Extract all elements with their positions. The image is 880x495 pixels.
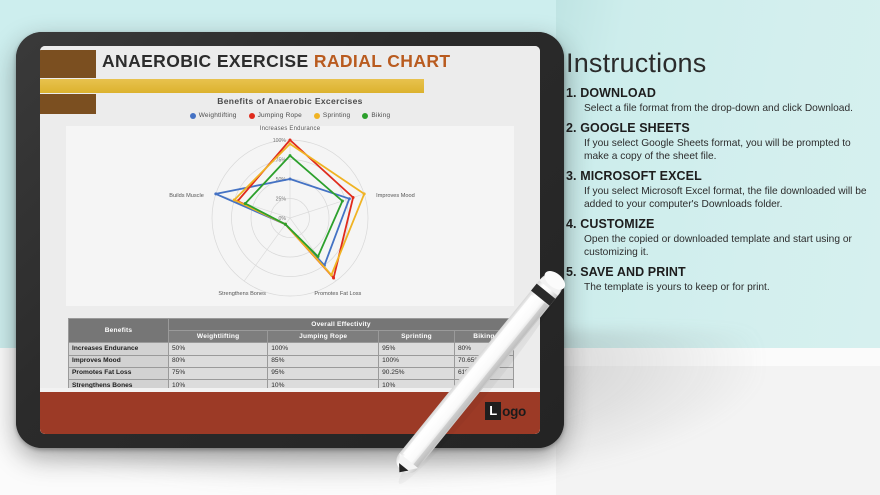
table-head: Benefits Overall Effectivity Weightlifti… <box>69 319 514 343</box>
table-cell-value: 75% <box>169 367 268 379</box>
tablet-device: ANAEROBIC EXERCISE RADIAL CHART Benefits… <box>16 32 564 448</box>
page-title: ANAEROBIC EXERCISE RADIAL CHART <box>102 51 451 72</box>
svg-text:Improves Mood: Improves Mood <box>376 193 415 199</box>
legend-item[interactable]: Jumping Rope <box>249 112 302 119</box>
table-header-row-1: Benefits Overall Effectivity <box>69 319 514 331</box>
table-cell-value: 95% <box>268 367 379 379</box>
table-row: Promotes Fat Loss75%95%90.25%61% <box>69 367 514 379</box>
legend-color-swatch-icon <box>190 113 196 119</box>
table-col-benefits: Benefits <box>69 319 169 343</box>
table-cell-benefit: Promotes Fat Loss <box>69 367 169 379</box>
table-subcol-sprinting: Sprinting <box>379 331 455 343</box>
legend-item[interactable]: Sprinting <box>314 112 350 119</box>
table-cell-value: 90.25% <box>379 367 455 379</box>
legend-label: Sprinting <box>323 112 350 119</box>
legend-color-swatch-icon <box>314 113 320 119</box>
logo-initial: L <box>485 402 501 420</box>
table-cell-value: 70.65% <box>454 355 513 367</box>
instruction-step-heading: 1. DOWNLOAD <box>566 86 876 100</box>
table-cell-benefit: Increases Endurance <box>69 343 169 355</box>
legend-label: Jumping Rope <box>258 112 302 119</box>
radar-chart: Increases Endurance 0%25%50%75%100%Impro… <box>66 126 514 306</box>
instruction-step-body: Select a file format from the drop-down … <box>584 103 876 115</box>
table-cell-value: 61% <box>454 367 513 379</box>
legend-item[interactable]: Biking <box>362 112 390 119</box>
table-cell-value: 95% <box>379 343 455 355</box>
table-subcol-weightlifting: Weightlifting <box>169 331 268 343</box>
radar-chart-svg: 0%25%50%75%100%Improves MoodPromotes Fat… <box>66 126 514 306</box>
table-row: Improves Mood80%85%100%70.65% <box>69 355 514 367</box>
header-block-upper <box>40 50 96 78</box>
table-col-group: Overall Effectivity <box>169 319 514 331</box>
table-cell-value: 50% <box>169 343 268 355</box>
legend-item[interactable]: Weightlifting <box>190 112 237 119</box>
table-cell-value: 80% <box>169 355 268 367</box>
svg-text:Builds Muscle: Builds Muscle <box>169 193 204 199</box>
tablet-screen[interactable]: ANAEROBIC EXERCISE RADIAL CHART Benefits… <box>40 46 540 434</box>
instruction-step-heading: 3. MICROSOFT EXCEL <box>566 169 876 183</box>
legend-label: Biking <box>371 112 390 119</box>
instructions-panel: Instructions 1. DOWNLOADSelect a file fo… <box>566 50 876 295</box>
instruction-step-body: The template is yours to keep or for pri… <box>584 282 876 294</box>
table-subcol-jumping-rope: Jumping Rope <box>268 331 379 343</box>
instruction-step-heading: 4. CUSTOMIZE <box>566 217 876 231</box>
table-cell-value: 80% <box>454 343 513 355</box>
table-cell-benefit: Improves Mood <box>69 355 169 367</box>
logo-text: ogo <box>502 404 526 419</box>
table-cell-value: 100% <box>379 355 455 367</box>
instruction-step-body: If you select Google Sheets format, you … <box>584 138 876 163</box>
table-row: Increases Endurance50%100%95%80% <box>69 343 514 355</box>
instruction-step-heading: 2. GOOGLE SHEETS <box>566 121 876 135</box>
instruction-step-body: Open the copied or downloaded template a… <box>584 234 876 259</box>
legend-label: Weightlifting <box>199 112 237 119</box>
spreadsheet-template: ANAEROBIC EXERCISE RADIAL CHART Benefits… <box>40 46 540 434</box>
canvas: ANAEROBIC EXERCISE RADIAL CHART Benefits… <box>0 0 880 495</box>
svg-text:Strengthens Bones: Strengthens Bones <box>218 291 266 297</box>
table-cell-value: 85% <box>268 355 379 367</box>
instruction-steps: 1. DOWNLOADSelect a file format from the… <box>566 86 876 295</box>
sheet-footer: L ogo <box>40 388 540 434</box>
page-title-accent: RADIAL CHART <box>314 51 451 71</box>
svg-text:Promotes Fat Loss: Promotes Fat Loss <box>314 291 361 297</box>
page-title-main: ANAEROBIC EXERCISE <box>102 51 314 71</box>
chart-legend: Weightlifting Jumping Rope Sprinting Bik… <box>40 112 540 119</box>
table-subcol-biking: Biking <box>454 331 513 343</box>
header-gold-bar <box>40 79 424 93</box>
instruction-step-body: If you select Microsoft Excel format, th… <box>584 186 876 211</box>
svg-text:100%: 100% <box>273 138 287 144</box>
sheet-header: ANAEROBIC EXERCISE RADIAL CHART Benefits… <box>40 46 540 102</box>
legend-color-swatch-icon <box>249 113 255 119</box>
instructions-title: Instructions <box>566 50 876 77</box>
table-cell-value: 100% <box>268 343 379 355</box>
svg-text:25%: 25% <box>276 197 287 203</box>
logo: L ogo <box>485 402 526 420</box>
instruction-step-heading: 5. SAVE AND PRINT <box>566 265 876 279</box>
legend-color-swatch-icon <box>362 113 368 119</box>
chart-subtitle: Benefits of Anaerobic Excercises <box>40 96 540 106</box>
